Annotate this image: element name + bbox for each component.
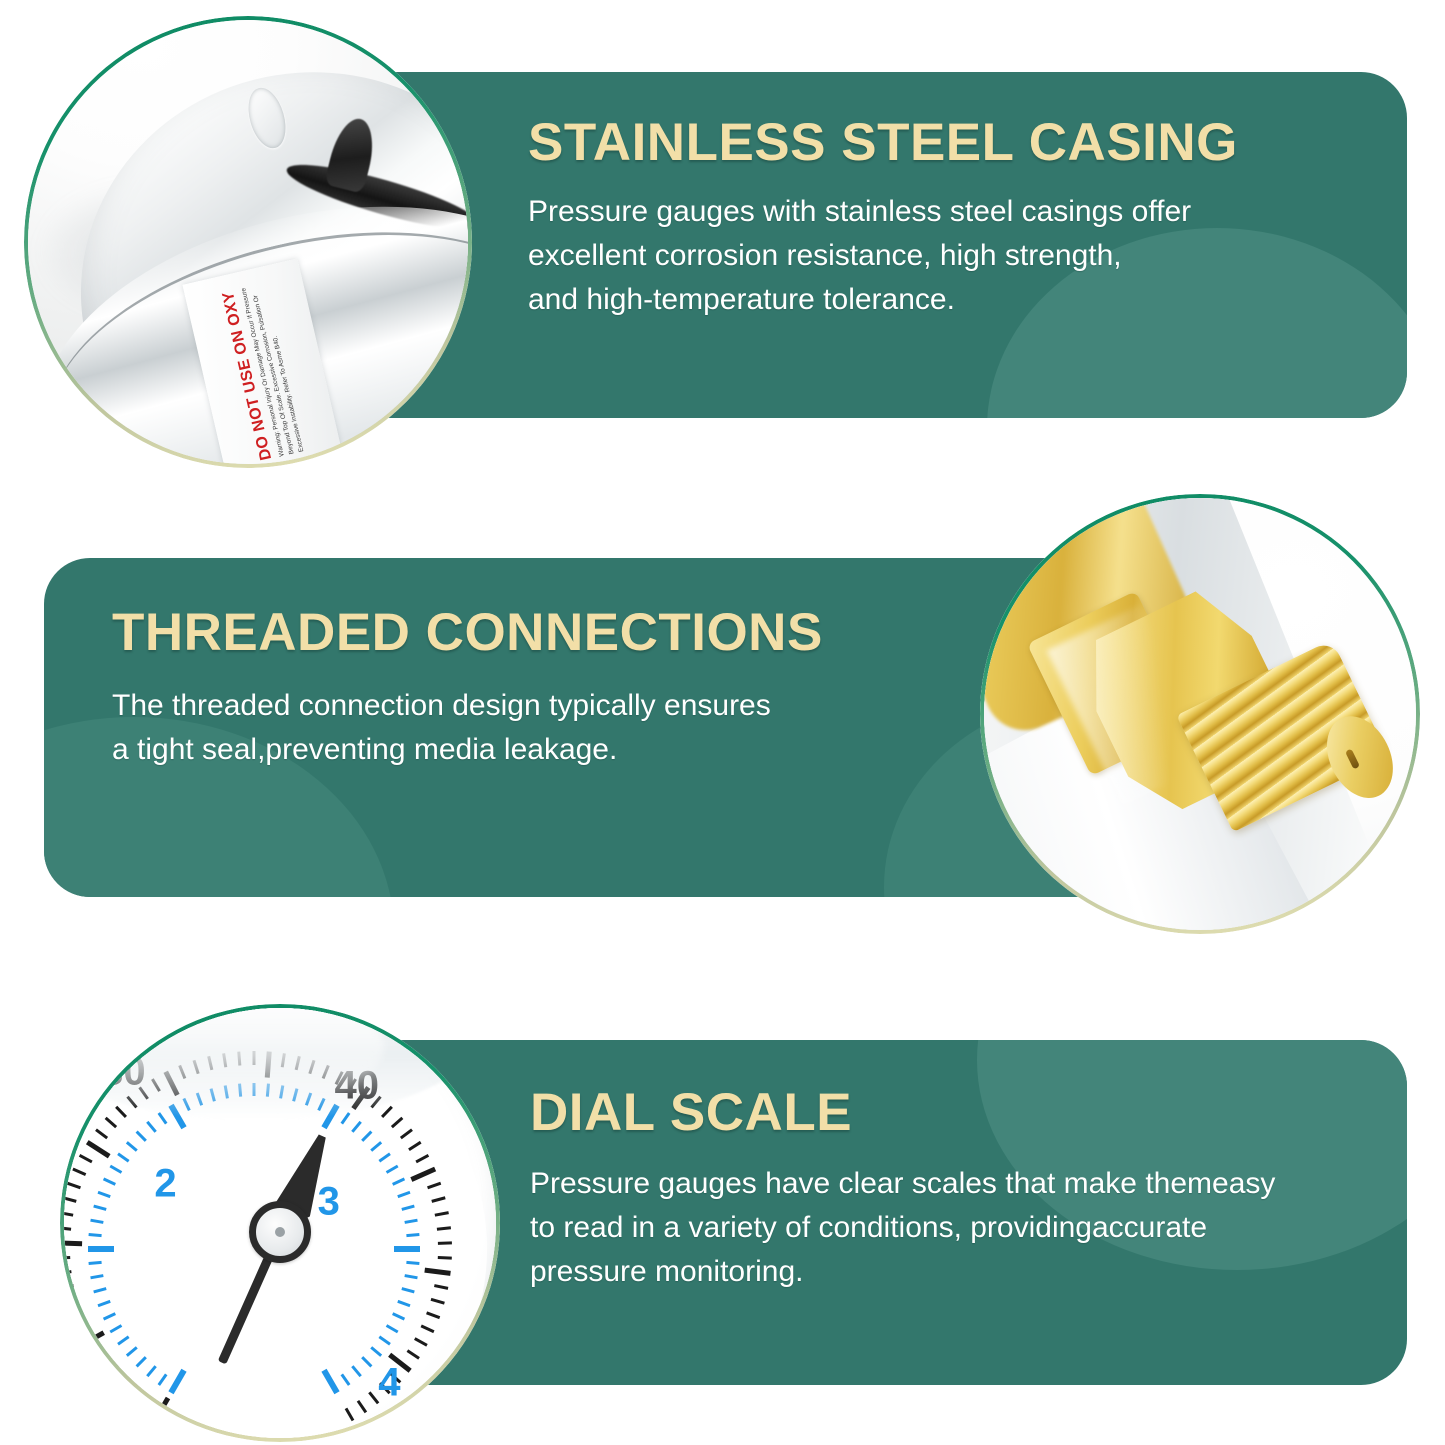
gauge-tick-bar <box>379 1335 391 1345</box>
feature-body-line: to read in a variety of conditions, prov… <box>530 1206 1407 1250</box>
gauge-tick-psi <box>427 1182 441 1189</box>
gauge-tick-bar <box>392 1312 405 1320</box>
gauge-tick-bar <box>136 1130 147 1141</box>
gauge-tick-bar <box>404 1218 417 1223</box>
gauge-tick-psi <box>72 1167 86 1175</box>
gauge-tick-psi <box>95 1128 108 1139</box>
gauge-tick-psi <box>434 1284 448 1290</box>
gauge-tick-bar <box>406 1261 419 1265</box>
gauge-tick-bar <box>361 1130 372 1141</box>
infographic-canvas: STAINLESS STEEL CASING Pressure gauges w… <box>0 0 1445 1445</box>
gauge-tick-bar <box>401 1204 414 1210</box>
gauge-tick-psi <box>107 1372 119 1384</box>
gauge-tick-bar <box>126 1141 138 1152</box>
gauge-tick-bar <box>90 1218 103 1223</box>
gauge-tick-bar <box>397 1191 410 1198</box>
dial-scale-photo: 30 40 1 2 3 4 <box>60 1004 500 1442</box>
gauge-tick-psi <box>105 1117 117 1129</box>
gauge-tick-bar <box>93 1287 106 1293</box>
gauge-tick-psi <box>431 1196 445 1203</box>
gauge-tick-psi <box>408 1141 421 1151</box>
gauge-tick-bar <box>117 1335 129 1345</box>
gauge-tick-psi <box>345 1407 355 1421</box>
gauge-tick-bar <box>394 1246 420 1252</box>
gauge-tick-psi <box>415 1154 429 1163</box>
gauge-tick-psi <box>437 1226 451 1230</box>
gauge-tick-psi <box>435 1211 449 1217</box>
gauge-tick-psi <box>391 1117 403 1129</box>
gauge-inner-label: 4 <box>378 1361 400 1406</box>
warning-label-text: DO NOT USE ON OXY Warning: Personal Inju… <box>220 281 307 461</box>
gauge-tick-psi <box>141 1400 151 1413</box>
gauge-tick-bar <box>158 1112 168 1124</box>
gauge-tick-bar <box>90 1274 103 1279</box>
feature-title: STAINLESS STEEL CASING <box>528 116 1407 170</box>
gauge-tick-bar <box>136 1356 147 1367</box>
gauge-tick-psi <box>68 1311 82 1319</box>
gauge-tick-psi <box>400 1128 413 1139</box>
gauge-tick-bar <box>386 1164 399 1173</box>
gauge-tick-psi <box>407 1349 420 1359</box>
gauge-tick-psi <box>115 1106 127 1118</box>
gauge-tick-psi <box>438 1256 452 1260</box>
gauge-tick-bar <box>110 1164 123 1173</box>
feature-body-line: pressure monitoring. <box>530 1250 1407 1294</box>
gauge-tick-bar <box>404 1274 417 1279</box>
gauge-tick-psi <box>431 1298 445 1305</box>
gauge-tick-psi <box>410 1167 436 1182</box>
feature-body-line: Pressure gauges have clear scales that m… <box>530 1162 1407 1206</box>
threaded-brass-fitting-photo <box>980 494 1420 934</box>
gauge-tick-bar <box>89 1233 102 1237</box>
gauge-tick-bar <box>168 1369 186 1395</box>
gauge-tick-bar <box>103 1177 116 1185</box>
gauge-tick-bar <box>370 1141 382 1152</box>
gauge-needle-hub <box>249 1201 311 1263</box>
medallion-image <box>984 498 1416 930</box>
gauge-tick-bar <box>361 1356 372 1367</box>
gauge-tick-bar <box>146 1365 157 1377</box>
feature-body: Pressure gauges with stainless steel cas… <box>528 190 1407 322</box>
feature-body-line: Pressure gauges with stainless steel cas… <box>528 190 1407 234</box>
gauge-tick-psi <box>64 1211 73 1217</box>
gauge-tick-bar <box>392 1177 405 1185</box>
gauge-tick-psi <box>438 1241 452 1244</box>
gauge-tick-bar <box>103 1312 116 1320</box>
gauge-tick-bar <box>158 1373 168 1385</box>
gauge-tick-bar <box>98 1300 111 1307</box>
gauge-tick-psi <box>424 1267 450 1275</box>
gauge-tick-psi <box>64 1196 77 1203</box>
gauge-tick-psi <box>64 1226 71 1230</box>
stainless-steel-casing-photo: DO NOT USE ON OXY Warning: Personal Inju… <box>24 16 472 468</box>
gauge-tick-psi <box>64 1298 78 1305</box>
gauge-tick-bar <box>93 1204 106 1210</box>
gauge-inner-label: 1 <box>84 1333 106 1378</box>
medallion-image: DO NOT USE ON OXY Warning: Personal Inju… <box>28 20 468 464</box>
gauge-tick-psi <box>426 1311 440 1319</box>
gauge-tick-bar <box>379 1152 391 1162</box>
gauge-tick-psi <box>129 1391 140 1404</box>
gauge-tick-bar <box>370 1346 382 1357</box>
gauge-inner-label: 3 <box>318 1180 340 1225</box>
feature-body: Pressure gauges have clear scales that m… <box>530 1162 1407 1294</box>
gauge-tick-bar <box>341 1112 351 1124</box>
gauge-tick-psi <box>357 1400 367 1413</box>
gauge-tick-psi <box>64 1284 74 1290</box>
gauge-inner-label: 2 <box>154 1161 176 1206</box>
gauge-tick-bar <box>117 1152 129 1162</box>
gauge-tick-psi <box>64 1256 70 1260</box>
gauge-tick-psi <box>421 1324 435 1333</box>
gauge-tick-bar <box>98 1191 111 1198</box>
gauge-tick-bar <box>406 1233 419 1237</box>
feature-body-line: and high-temperature tolerance. <box>528 278 1407 322</box>
gauge-tick-bar <box>386 1324 399 1333</box>
feature-title: DIAL SCALE <box>530 1086 1407 1140</box>
gauge-tick-bar <box>146 1121 157 1133</box>
gauge-tick-bar <box>88 1246 114 1252</box>
gauge-tick-bar <box>321 1369 339 1395</box>
gauge-tick-bar <box>351 1121 362 1133</box>
medallion-image: 30 40 1 2 3 4 <box>64 1008 496 1438</box>
gauge-tick-psi <box>64 1240 82 1246</box>
feature-body-line: excellent corrosion resistance, high str… <box>528 234 1407 278</box>
gauge-tick-psi <box>79 1154 93 1163</box>
gauge-tick-bar <box>89 1261 102 1265</box>
gauge-tick-psi <box>86 1140 111 1158</box>
gauge-tick-psi <box>414 1337 428 1346</box>
gauge-tick-psi <box>74 1324 88 1333</box>
gauge-tick-bar <box>341 1373 351 1385</box>
gauge-tick-bar <box>110 1324 123 1333</box>
gauge-tick-psi <box>64 1270 72 1275</box>
gauge-tick-bar <box>401 1287 414 1293</box>
gauge-tick-bar <box>351 1365 362 1377</box>
gauge-tick-bar <box>397 1300 410 1307</box>
gauge-tick-psi <box>381 1106 393 1118</box>
gauge-tick-psi <box>153 1396 170 1421</box>
gauge-tick-bar <box>126 1346 138 1357</box>
gauge-tick-psi <box>117 1382 129 1394</box>
gauge-tick-psi <box>67 1182 81 1189</box>
